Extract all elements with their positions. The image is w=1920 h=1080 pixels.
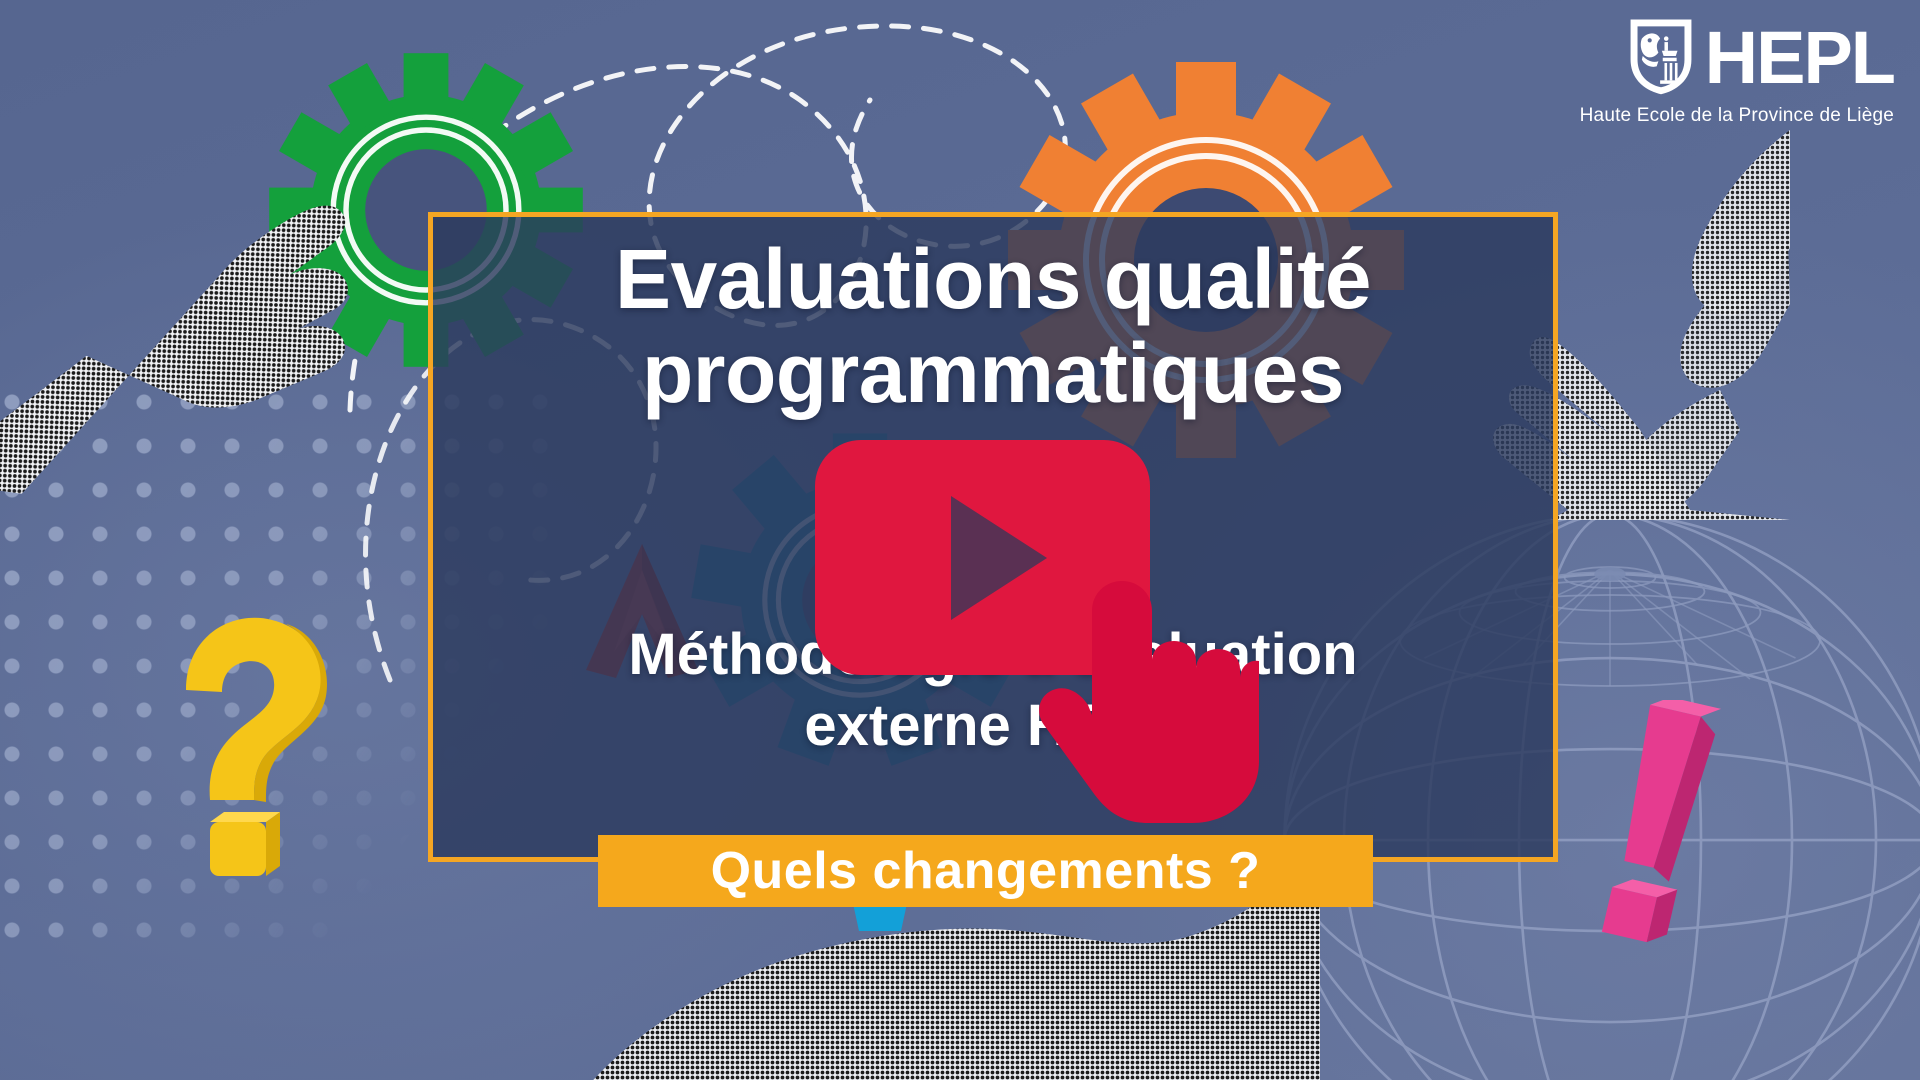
logo-wordmark: HEPL: [1705, 23, 1894, 93]
slide-canvas: Evaluations qualité programmatiques Méth…: [0, 0, 1920, 1080]
shield-lion-crest-icon: [1627, 16, 1695, 101]
logo-tagline: Haute Ecole de la Province de Liège: [1580, 105, 1894, 127]
pointing-hand-cursor-icon: [1030, 565, 1260, 825]
halftone-hand-icon: [0, 12, 448, 508]
hepl-logo: HEPL Haute Ecole de la Province de Liège: [1580, 16, 1894, 127]
banner-text: Quels changements ?: [711, 841, 1261, 901]
question-mark-3d-icon: [160, 610, 340, 880]
exclamation-mark-3d-icon: [1570, 700, 1730, 960]
banner-quels-changements: Quels changements ?: [598, 835, 1373, 907]
